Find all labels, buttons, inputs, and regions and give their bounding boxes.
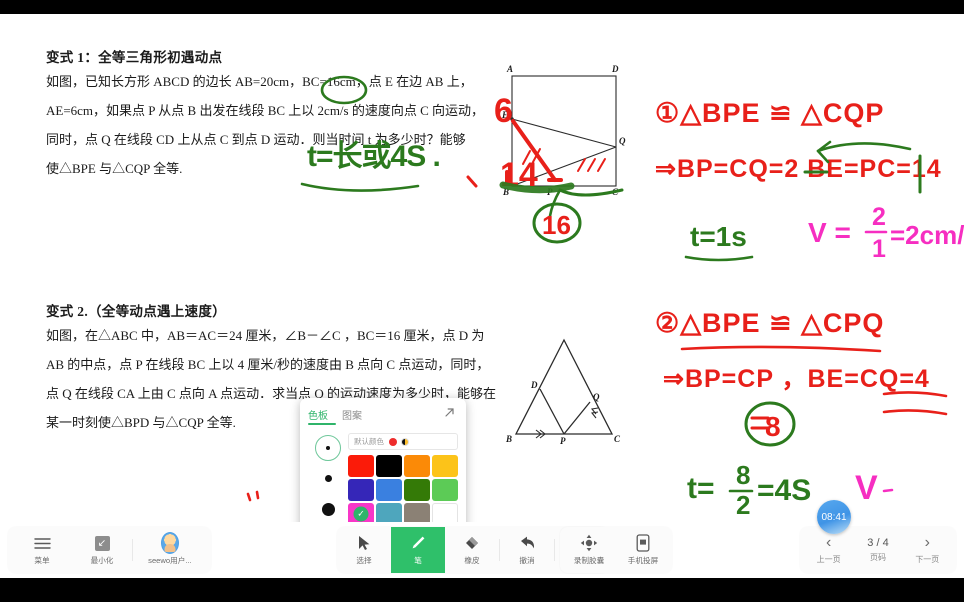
cursor-icon (355, 534, 373, 552)
default-color-dual-icon[interactable] (401, 438, 409, 446)
color-swatch-4[interactable] (348, 479, 374, 501)
expand-arrow-icon[interactable] (443, 406, 456, 419)
tool-undo[interactable]: 撤消 (500, 527, 554, 573)
color-swatch-7[interactable] (432, 479, 458, 501)
fig2-label-B: B (505, 434, 512, 444)
problem-1-line-3: 同时，点 Q 在线段 CD 上从点 C 到点 D 运动．则当时间 t 为多少时？… (46, 126, 484, 153)
default-color-red-icon[interactable] (389, 438, 397, 446)
phone-cast-icon (634, 534, 652, 552)
whiteboard-canvas[interactable]: 变式 1：全等三角形初遇动点 如图，已知长方形 ABCD 的边长 AB=20cm… (0, 14, 964, 522)
ink-red-line-1: ①△BPE ≌ △CQP (655, 98, 884, 128)
palette-tab-underline (308, 423, 336, 425)
prev-page-label: 上一页 (817, 554, 841, 565)
svg-text:⇒BP=CQ=2 BE=PC=14: ⇒BP=CQ=2 BE=PC=14 (655, 155, 942, 183)
fig2-label-D: D (530, 380, 538, 390)
eraser-icon (463, 534, 481, 552)
ink-red-line-3: ②△BPE ≌ △CPQ (655, 308, 884, 351)
color-swatch-8[interactable]: ✓ (348, 503, 374, 522)
tool-select-label: 选择 (356, 555, 371, 565)
figure-triangle-abc: D Q B P C (500, 336, 630, 446)
page-number-value: 3 / 4 (867, 537, 888, 549)
problem-1-line-2: AE=6cm，如果点 P 从点 B 出发在线段 BC 上以 2cm/s 的速度向… (46, 97, 484, 124)
page-navigation-group: ‹ 上一页 3 / 4 页码 › 下一页 (800, 527, 956, 573)
minimize-label: 最小化 (91, 555, 114, 565)
color-swatch-9[interactable] (376, 503, 402, 522)
color-swatch-3[interactable] (432, 455, 458, 477)
problem-1-line-1: 如图，已知长方形 ABCD 的边长 AB=20cm，BC=16cm，点 E 在边… (46, 68, 484, 95)
fig1-label-A: A (506, 64, 513, 74)
svg-text:8: 8 (765, 411, 781, 442)
tool-select[interactable]: 选择 (337, 527, 391, 573)
color-swatch-11[interactable] (432, 503, 458, 522)
pen-size-small[interactable] (315, 435, 341, 461)
ink-green-t1: t=1s (686, 221, 752, 260)
svg-text:=4S: =4S (757, 474, 811, 507)
svg-text:=2cm/s: =2cm/s (890, 220, 964, 250)
palette-tabs: 色板 图案 (308, 404, 458, 424)
problem-1: 变式 1：全等三角形初遇动点 如图，已知长方形 ABCD 的边长 AB=20cm… (46, 46, 484, 182)
svg-text:2: 2 (872, 203, 886, 231)
hamburger-icon (33, 534, 51, 552)
svg-text:t=1s: t=1s (690, 221, 747, 252)
ink-green-8: 8 (746, 403, 794, 445)
figure-rectangle-abcd: A D E Q B P C (492, 62, 642, 202)
fig2-label-Q: Q (593, 392, 600, 402)
taskbar-right-tools-group: 录制胶囊 手机投屏 (560, 527, 672, 573)
color-swatch-5[interactable] (376, 479, 402, 501)
default-color-label: 默认颜色 (354, 436, 384, 447)
user-label: seewo用户... (148, 555, 192, 565)
tool-pen[interactable]: 笔 (391, 527, 445, 573)
whiteboard-screen: 变式 1：全等三角形初遇动点 如图，已知长方形 ABCD 的边长 AB=20cm… (0, 0, 964, 602)
palette-tab-patterns[interactable]: 图案 (342, 407, 362, 422)
svg-text:⇒BP=CP ，BE=CQ=4: ⇒BP=CP ，BE=CQ=4 (663, 365, 930, 393)
menu-button[interactable]: 菜单 (12, 527, 72, 573)
default-color-row[interactable]: 默认颜色 (348, 433, 458, 450)
phone-cast-button[interactable]: 手机投屏 (616, 527, 670, 573)
svg-text:V =: V = (808, 217, 851, 248)
page-number-label: 页码 (870, 552, 886, 563)
record-capsule-icon (580, 534, 598, 552)
ink-pink-v2: V (855, 469, 892, 507)
color-swatch-10[interactable] (404, 503, 430, 522)
ink-stray-marks (248, 492, 258, 500)
fig2-label-C: C (614, 434, 621, 444)
record-capsule-button[interactable]: 录制胶囊 (562, 527, 616, 573)
chevron-left-icon: ‹ (826, 535, 831, 551)
svg-text:1: 1 (872, 235, 886, 263)
fig1-label-D: D (611, 64, 619, 74)
prev-page-button[interactable]: ‹ 上一页 (804, 527, 853, 573)
tool-eraser[interactable]: 橡皮 (445, 527, 499, 573)
ink-green-t2: t= 8 2 =4S (687, 460, 811, 520)
fig1-label-C: C (612, 187, 619, 197)
menu-label: 菜单 (34, 555, 49, 565)
palette-tab-colors[interactable]: 色板 (308, 407, 328, 422)
svg-text:2: 2 (736, 490, 750, 520)
problem-2-title: 变式 2.（全等动点遇上速度） (46, 300, 496, 320)
tool-eraser-label: 橡皮 (464, 555, 479, 565)
timer-badge[interactable]: 08:41 (817, 500, 851, 534)
svg-text:8: 8 (736, 460, 750, 490)
next-page-label: 下一页 (915, 554, 939, 565)
color-swatch-6[interactable] (404, 479, 430, 501)
phone-cast-label: 手机投屏 (628, 555, 658, 565)
pen-size-large[interactable] (314, 495, 342, 522)
ink-red-line-2: ⇒BP=CQ=2 BE=PC=14 (655, 155, 942, 183)
ink-pink-v1: V = 2 1 =2cm/s (808, 203, 964, 263)
fig2-label-P: P (560, 436, 566, 446)
ink-red-16: 16 (542, 210, 571, 240)
taskbar-left-group: 菜单 ↙ 最小化 seewo用户... (8, 527, 211, 573)
next-page-button[interactable]: › 下一页 (903, 527, 952, 573)
problem-1-title: 变式 1：全等三角形初遇动点 (46, 46, 484, 66)
pen-size-options (308, 433, 348, 522)
color-swatch-check-icon: ✓ (354, 507, 369, 522)
svg-text:t=: t= (687, 472, 715, 505)
color-swatch-0[interactable] (348, 455, 374, 477)
fig1-label-E: E (501, 110, 508, 120)
problem-1-line-4: 使△BPE 与△CQP 全等. (46, 155, 484, 182)
color-swatch-grid: ✓ (348, 455, 458, 522)
svg-text:V: V (855, 469, 878, 507)
pen-icon (409, 534, 427, 552)
ink-red-line-4: ⇒BP=CP ，BE=CQ=4 (663, 365, 946, 414)
bottom-taskbar: 菜单 ↙ 最小化 seewo用户... 选择 (0, 522, 964, 578)
fig1-label-Q: Q (619, 136, 626, 146)
svg-text:①△BPE ≌ △CQP: ①△BPE ≌ △CQP (655, 98, 884, 128)
color-swatch-2[interactable] (404, 455, 430, 477)
minimize-button[interactable]: ↙ 最小化 (72, 527, 132, 573)
fig1-label-P: P (547, 187, 553, 197)
problem-2-line-2: AB 的中点，点 P 在线段 BC 上以 4 厘米/秒的速度由 B 点向 C 点… (46, 351, 496, 378)
record-capsule-label: 录制胶囊 (574, 555, 604, 565)
tool-pen-label: 笔 (414, 555, 422, 565)
tool-undo-label: 撤消 (519, 555, 534, 565)
problem-2-line-1: 如图，在△ABC 中，AB＝AC＝24 厘米，∠B－∠C ，BC＝16 厘米，点… (46, 322, 496, 349)
color-palette-popup[interactable]: 色板 图案 默认颜色 (300, 398, 466, 522)
pen-size-medium[interactable] (314, 464, 342, 492)
minimize-icon: ↙ (93, 534, 111, 552)
color-swatch-1[interactable] (376, 455, 402, 477)
avatar-icon (161, 534, 179, 552)
svg-text:②△BPE ≌ △CPQ: ②△BPE ≌ △CPQ (655, 308, 884, 338)
chevron-right-icon: › (925, 535, 930, 551)
undo-icon (518, 534, 536, 552)
user-button[interactable]: seewo用户... (133, 527, 207, 573)
fig1-label-B: B (502, 187, 509, 197)
page-indicator[interactable]: 3 / 4 页码 (853, 527, 902, 573)
